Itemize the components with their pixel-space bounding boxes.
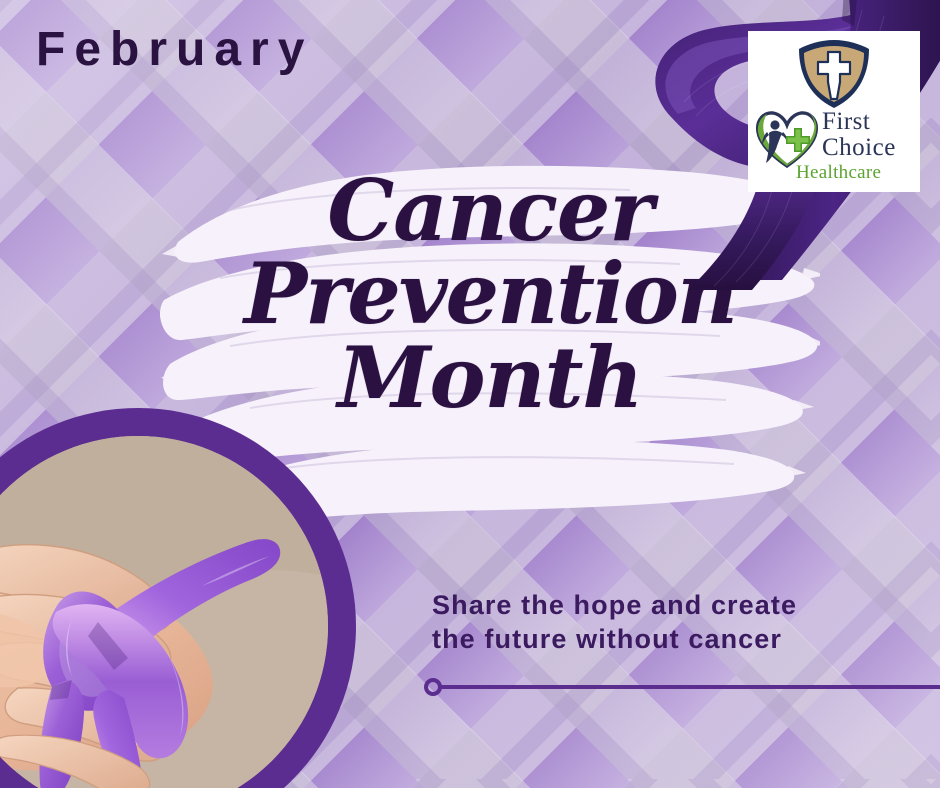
tagline: Share the hope and create the future wit… [432,588,924,656]
month-label: February [36,26,313,74]
tagline-line-1: Share the hope and create [432,590,797,620]
brand-line-healthcare: Healthcare [796,162,896,184]
tagline-rule [424,678,940,696]
brand-line-choice: Choice [822,135,896,161]
tagline-line-2: the future without cancer [432,624,782,654]
shield-cross-icon [795,37,873,111]
brand-line-first: First [822,109,896,135]
poster-canvas: February [0,0,940,788]
rule-line [438,685,940,689]
brand-wordmark: First Choice Healthcare [822,109,896,184]
hands-ribbon-photo [0,436,328,788]
brand-logo-card: First Choice Healthcare [748,31,920,192]
headline-line-3: Month [165,337,815,418]
photo-content [0,436,328,788]
